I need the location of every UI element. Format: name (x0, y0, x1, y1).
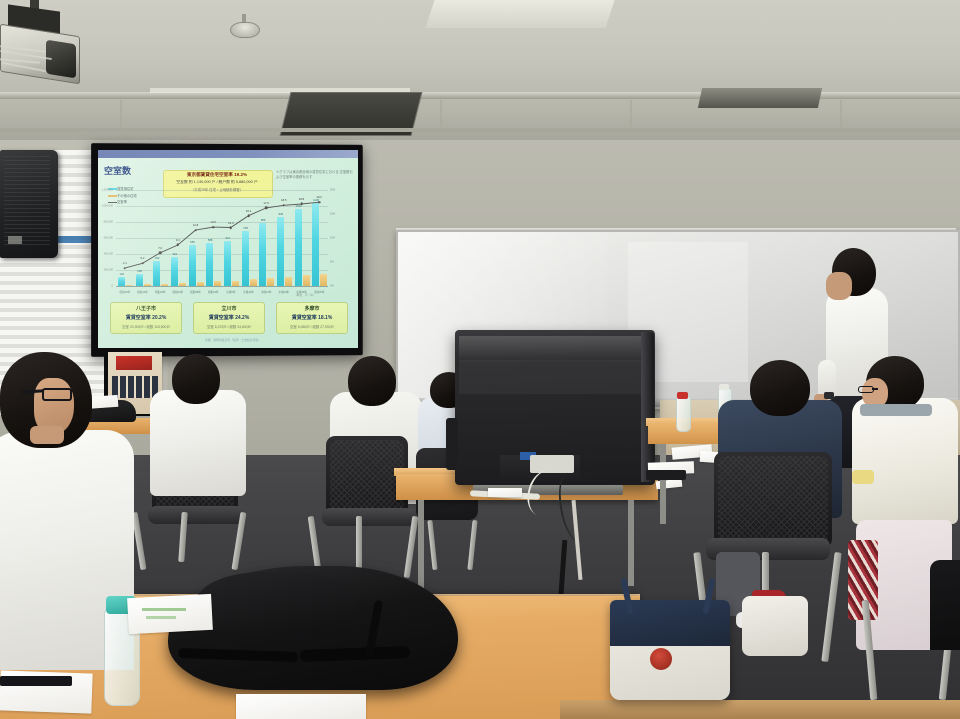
person-attendee-1-neck (30, 426, 64, 444)
chart-line-label: 13.4 (224, 221, 238, 225)
papers-center-table (488, 488, 522, 497)
chart-line-point (141, 262, 144, 265)
table-leg (418, 500, 424, 596)
chart-y-tick: 800,000 (104, 221, 113, 224)
chart-line-point (230, 226, 233, 229)
summary-city-name: 八王子市 (111, 305, 181, 312)
chart-line-point (265, 207, 268, 210)
ceiling-grid-line (120, 100, 122, 130)
chart-line-label: 9.4 (171, 238, 185, 242)
projection-screen[interactable]: 空室数 東京都賃貸住宅空室率 19.2% 空室数 約 1,130,000 戸 /… (98, 150, 358, 348)
notebook-right-table (646, 470, 686, 480)
chair-mesh-center (330, 440, 404, 516)
chart-line-point (159, 252, 162, 255)
glasses-icon (42, 388, 72, 401)
person-attendee-2-torso (150, 390, 246, 496)
chart-y-tick: 1,200,000 (101, 189, 113, 192)
chair-mesh-right (718, 456, 828, 544)
ceiling-grid-line (440, 100, 442, 130)
chart-line-point (318, 201, 321, 204)
backpack-flap (196, 572, 356, 634)
water-bottle-right (676, 396, 691, 432)
chart-line-series (116, 190, 328, 286)
ceiling-grid-line (840, 100, 842, 130)
table-leg (628, 500, 634, 586)
chart-line-label: 18.5 (277, 198, 291, 202)
slide-note-top-right: ※グラフは東京都全域の賃貸住宅における 空室数および空室率の推移を示す (276, 170, 354, 181)
chart-line-label: 18.8 (295, 197, 309, 201)
summary-city-name: 多摩市 (277, 305, 347, 312)
chair-seat-center (322, 508, 416, 526)
chart-line-label: 7.6 (153, 246, 167, 250)
chart-y-tick: 200,000 (104, 269, 113, 272)
papers-front-table (127, 594, 213, 634)
summary-city-name: 立川市 (194, 305, 264, 312)
summary-box-city-3: 多摩市 賃貸空室率 18.1% 空室 5,060戸 / 総数 27,900戸 (276, 302, 348, 334)
chart-x-axis (116, 286, 328, 287)
speaker-badge (8, 236, 22, 244)
person-attendee-3-head (348, 356, 396, 406)
ceiling-grid-line (630, 100, 632, 130)
person-presenter-face (826, 272, 852, 300)
person-attendee-5-head (750, 360, 810, 416)
summary-box-city-1: 八王子市 賃貸空室率 20.2% 空室 20,900戸 / 総数 103,500… (110, 302, 182, 334)
person-attendee-6-collar (860, 404, 932, 416)
chart-line-point (283, 204, 286, 207)
display-label-plate (530, 455, 574, 473)
chart-line-point (300, 203, 303, 206)
speaker-grille-icon (4, 156, 50, 248)
chart-y2-tick: 15% (330, 213, 335, 216)
bottle-cap-white (719, 384, 729, 390)
chart-x-tick: 平成15年 (257, 290, 275, 294)
front-right-table (560, 700, 960, 719)
chart-line-label: 19.2 (312, 195, 326, 199)
ceiling-rail-lower (0, 128, 960, 132)
summary-rate: 賃貸空室率 18.1% (277, 314, 347, 321)
poster-graphic-pattern (112, 376, 158, 398)
summary-box-city-2: 立川市 賃貸空室率 24.2% 空室 8,370戸 / 総数 34,600戸 (193, 302, 265, 334)
chart-line-point (194, 229, 197, 232)
callout-subline: 空室数 約 1,130,000 戸 / 総戸数 約 5,880,000 戸 (164, 180, 270, 185)
chart-plot-area: 120昭和38年168昭和43年342昭和48年392昭和53年556昭和58年… (116, 190, 328, 286)
tote-bag-logo-icon (650, 648, 672, 670)
display-side-connector (446, 418, 458, 470)
ceiling-vent-secondary (698, 88, 822, 108)
chair-leg (356, 516, 362, 570)
chart-x-tick: 昭和63年 (204, 290, 222, 294)
papers-front-right (236, 694, 366, 719)
chart-line-label: 13.5 (206, 220, 220, 224)
chart-y2-tick: 10% (330, 237, 335, 240)
chart-x-tick: 平成20年 (275, 290, 293, 294)
chart-y-tick: 1,000,000 (101, 205, 113, 208)
summary-rate: 賃貸空室率 20.2% (111, 314, 181, 321)
chart-y-axis: 0200,000400,000600,000800,0001,000,0001,… (98, 190, 114, 286)
classroom-scene: 空室数 東京都賃貸住宅空室率 19.2% 空室数 約 1,130,000 戸 /… (0, 0, 960, 719)
callout-headline: 東京都賃貸住宅空室率 19.2% (164, 172, 270, 178)
ceiling-light (425, 0, 614, 28)
slide-header-band (98, 150, 358, 158)
table-leg (660, 444, 666, 524)
chart-x-tick: 昭和48年 (151, 290, 169, 294)
wristwatch (824, 392, 834, 399)
chart-x-tick: 昭和43年 (134, 290, 152, 294)
chart-y-tick: 0 (112, 285, 113, 288)
person-attendee-7-torso (930, 560, 960, 650)
document-dark-band (0, 676, 72, 686)
chart-y2-tick: 5% (330, 261, 334, 264)
chart-x-tick: 昭和53年 (169, 290, 187, 294)
paper-print-line (146, 616, 176, 619)
projector-cables (0, 46, 62, 72)
person-attendee-2-head (172, 354, 220, 404)
summary-detail: 空室 5,060戸 / 総数 27,900戸 (277, 324, 347, 329)
poster-graphic-red (116, 356, 152, 370)
chart-y-tick: 400,000 (104, 253, 113, 256)
smoke-detector-icon (230, 22, 260, 38)
chart-x-tick: 平成10年 (240, 290, 258, 294)
person-attendee-6-sleeve-trim (852, 470, 874, 484)
chart-x-tick: 昭和58年 (187, 290, 205, 294)
chart-y2-tick: 20% (330, 189, 335, 192)
slide-title: 空室数 (104, 164, 131, 177)
summary-rate: 賃貸空室率 24.2% (194, 314, 264, 321)
chart-line-point (124, 267, 127, 270)
summary-detail: 空室 8,370戸 / 総数 34,600戸 (194, 324, 264, 329)
chart-y-tick: 600,000 (104, 237, 113, 240)
bottle-cap-red (677, 392, 688, 399)
glasses-bridge-icon (872, 388, 878, 390)
chart-line-label: 17.9 (259, 201, 273, 205)
chart-line-point (247, 214, 250, 217)
chart-line-point (212, 226, 215, 229)
chart-line-label: 12.8 (189, 223, 203, 227)
display-sheen-lower (459, 360, 649, 394)
chair-seat-left (148, 506, 244, 524)
chart-line-label: 16.1 (242, 209, 256, 213)
chart-line-point (177, 244, 180, 247)
chart-x-tick: 平成5年 (222, 290, 240, 294)
chart-line-label: 4.1 (118, 261, 132, 265)
chart-y2-axis: 0%5%10%15%20% (330, 190, 348, 286)
chart-line-label: 5.2 (136, 256, 150, 260)
display-sheen (459, 336, 649, 362)
slide-footer: 出典：総務省統計局「住宅・土地統計調査」 (158, 338, 308, 342)
summary-detail: 空室 20,900戸 / 総数 103,500戸 (111, 324, 181, 329)
display-bezel-right (641, 332, 654, 482)
bag-secondary (742, 596, 808, 656)
paper-print-line (142, 608, 186, 611)
chart-x-tick: 昭和38年 (116, 290, 134, 294)
chart-y2-tick: 0% (330, 285, 334, 288)
chart-axis-note: （単位：戸／％） (294, 293, 316, 297)
person-attendee-6-torso (852, 398, 958, 524)
